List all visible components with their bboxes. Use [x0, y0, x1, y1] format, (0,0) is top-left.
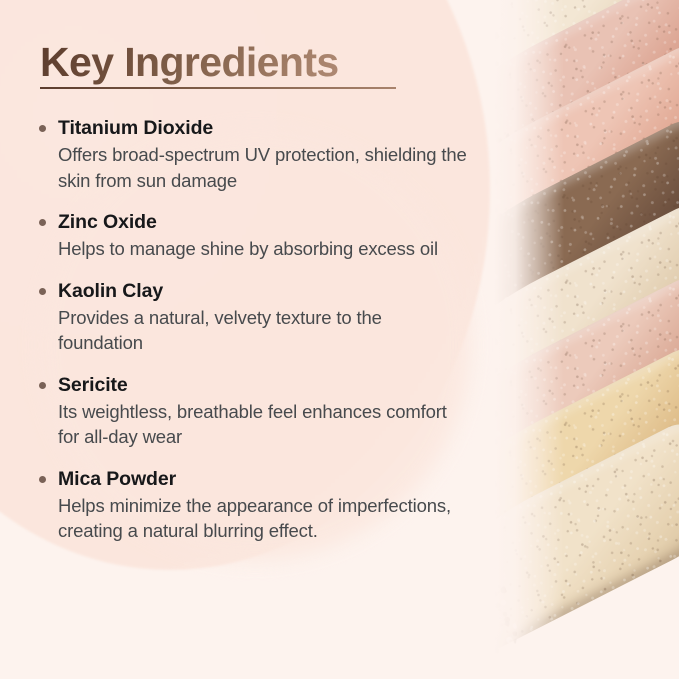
ingredient-name: Kaolin Clay — [58, 279, 468, 304]
page-title-block: Key Ingredients — [40, 38, 396, 89]
ingredient-description: Helps to manage shine by absorbing exces… — [58, 236, 468, 262]
ingredient-item: Kaolin ClayProvides a natural, velvety t… — [38, 279, 468, 356]
ingredient-description: Provides a natural, velvety texture to t… — [58, 305, 468, 356]
bullet-icon — [39, 125, 46, 132]
ingredient-description: Helps minimize the appearance of imperfe… — [58, 493, 468, 544]
ingredient-item: SericiteIts weightless, breathable feel … — [38, 373, 468, 450]
powder-swatch-bands — [494, 0, 679, 679]
bullet-icon — [39, 288, 46, 295]
page-title: Key Ingredients — [40, 38, 396, 86]
bullet-icon — [39, 219, 46, 226]
ingredient-name: Titanium Dioxide — [58, 116, 468, 141]
powder-swatch-strip — [494, 0, 679, 679]
ingredient-name: Sericite — [58, 373, 468, 398]
ingredient-item: Mica PowderHelps minimize the appearance… — [38, 467, 468, 544]
ingredient-description: Its weightless, breathable feel enhances… — [58, 399, 468, 450]
bullet-icon — [39, 476, 46, 483]
ingredient-description: Offers broad-spectrum UV protection, shi… — [58, 142, 468, 193]
text-column: Key Ingredients Titanium DioxideOffers b… — [0, 0, 500, 679]
ingredient-name: Mica Powder — [58, 467, 468, 492]
ingredient-name: Zinc Oxide — [58, 210, 468, 235]
ingredient-list: Titanium DioxideOffers broad-spectrum UV… — [38, 116, 468, 544]
ingredient-item: Titanium DioxideOffers broad-spectrum UV… — [38, 116, 468, 193]
ingredient-item: Zinc OxideHelps to manage shine by absor… — [38, 210, 468, 262]
bullet-icon — [39, 382, 46, 389]
product-ingredients-infographic: Key Ingredients Titanium DioxideOffers b… — [0, 0, 679, 679]
title-underline — [40, 87, 396, 89]
